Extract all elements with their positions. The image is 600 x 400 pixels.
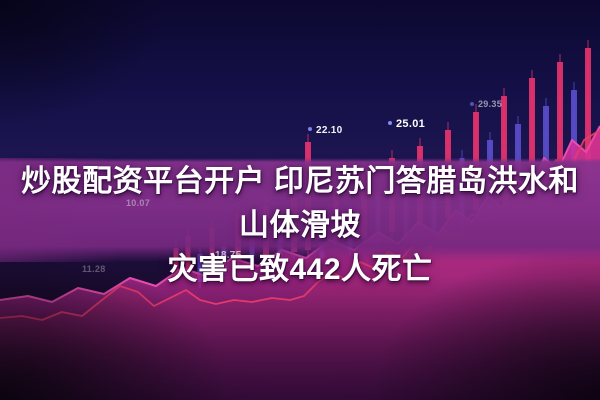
chart-label-dot-icon [470,102,474,106]
chart-label-text: 22.10 [316,125,343,136]
headline-line-2: 灾害已致442人死亡 [6,248,594,292]
chart-label-dot-icon [308,127,312,131]
chart-label-29-35: 29.35 [470,99,502,109]
headline-line-1: 炒股配资平台开户 印尼苏门答腊岛洪水和山体滑坡 [21,165,579,242]
chart-label-text: 29.35 [478,99,502,109]
page-title: 炒股配资平台开户 印尼苏门答腊岛洪水和山体滑坡 灾害已致442人死亡 [0,160,600,292]
news-banner: 10.0711.2818.7522.1025.0129.35 炒股配资平台开户 … [0,0,600,400]
chart-label-22-10: 22.10 [308,125,343,136]
chart-label-text: 25.01 [396,118,425,130]
chart-label-25-01: 25.01 [388,118,425,130]
chart-label-dot-icon [388,121,392,125]
